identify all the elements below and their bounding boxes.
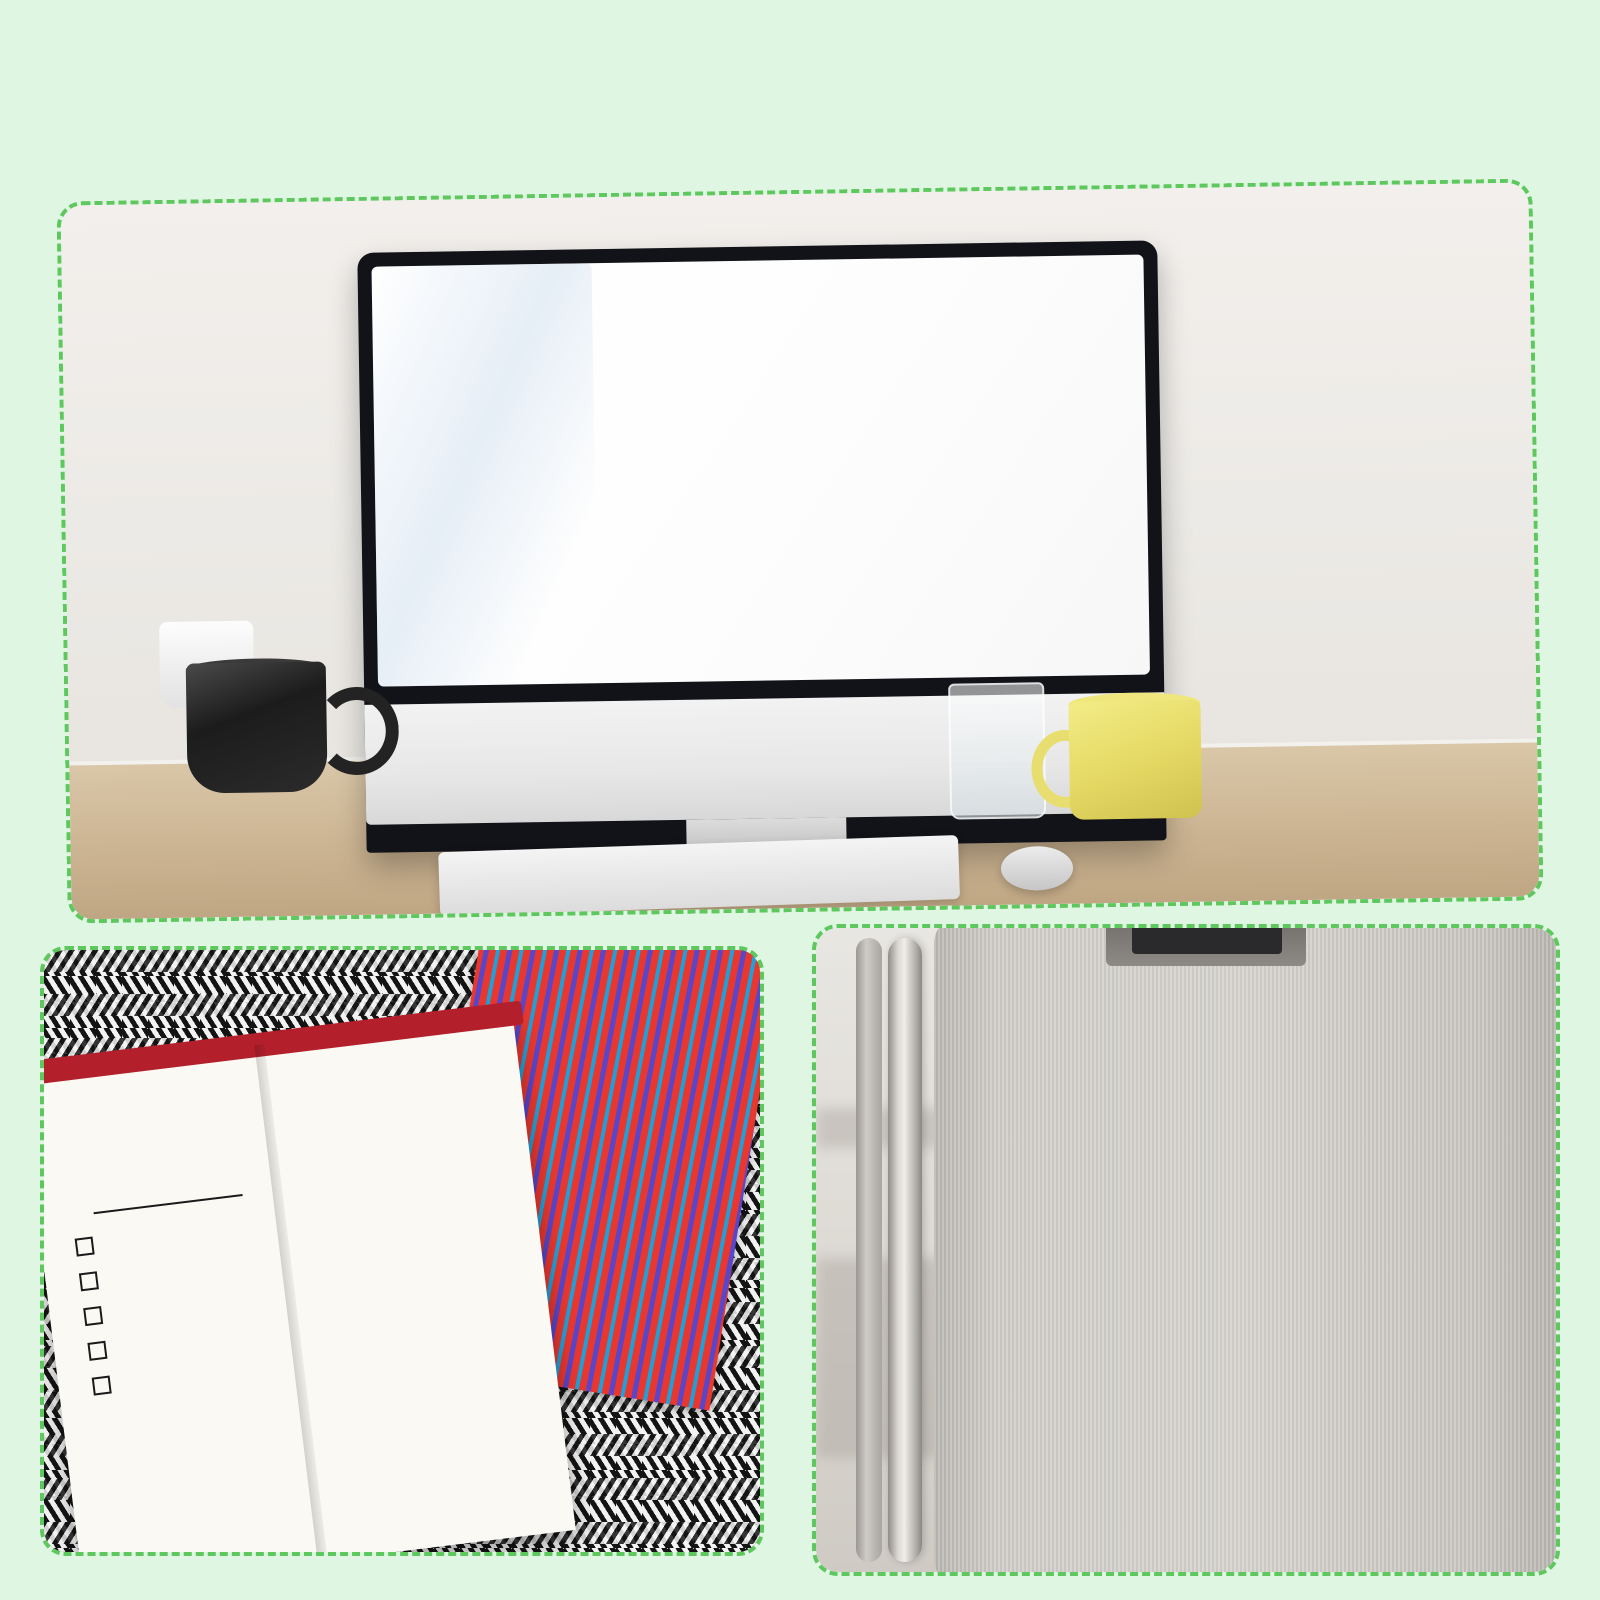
checkbox-sunglasses[interactable] [83, 1306, 103, 1326]
water-glass [948, 682, 1046, 819]
fridge-handle-inner[interactable] [856, 938, 882, 1562]
packing-list-underline [94, 1194, 243, 1214]
refrigerator-door [934, 928, 1556, 1572]
checkbox-suncream[interactable] [87, 1341, 107, 1361]
notebook-spine [254, 1044, 327, 1552]
product-infographic: /*bricks injected*/ [0, 0, 1600, 1600]
fridge-display[interactable] [1132, 928, 1282, 954]
open-planner-notebook [44, 1014, 576, 1552]
checkbox-bikini[interactable] [79, 1271, 99, 1291]
panel-desk-monitor-scene: /*bricks injected*/ [56, 178, 1543, 923]
panel-fridge-scene [812, 924, 1560, 1576]
screen-glare [371, 263, 598, 686]
checkbox-sandals[interactable] [75, 1237, 95, 1257]
checkbox-umbrella[interactable] [92, 1376, 112, 1396]
panel-notebook-beach-scene [40, 946, 764, 1556]
fridge-handle[interactable] [888, 938, 922, 1562]
black-mug [186, 661, 328, 793]
yellow-mug-pen-holder [1068, 700, 1202, 820]
